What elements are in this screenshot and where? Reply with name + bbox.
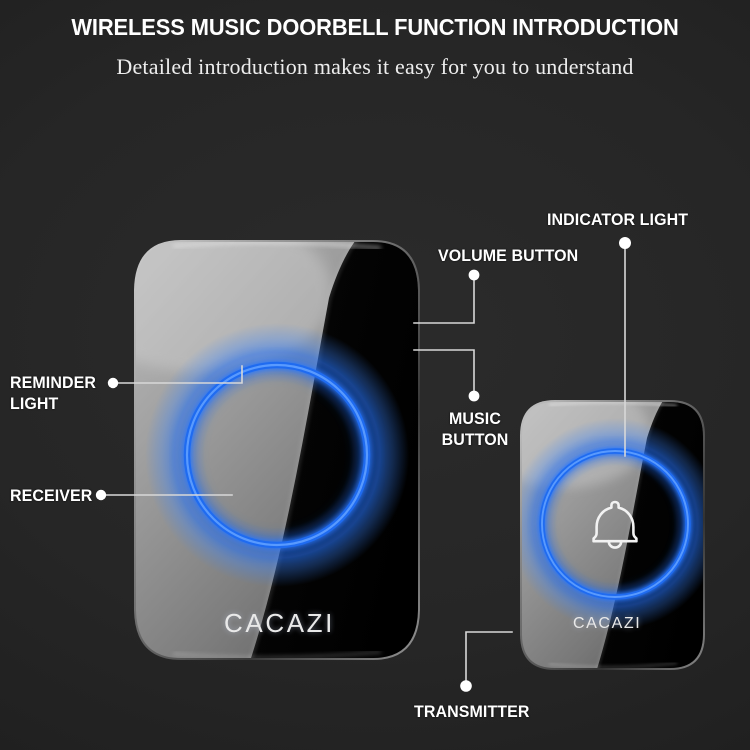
callout-label-indicator-light: INDICATOR LIGHT <box>547 209 688 230</box>
callout-line-1: INDICATOR LIGHT <box>547 209 688 230</box>
leader-volume-button <box>414 277 474 323</box>
callout-line-1: VOLUME BUTTON <box>438 245 578 266</box>
receiver-brand-logo: CACAZI <box>224 608 335 639</box>
callout-label-music-button: MUSIC BUTTON <box>416 408 534 450</box>
marker-dot-volume-button <box>469 270 480 281</box>
marker-dot-transmitter <box>460 680 472 692</box>
infographic-canvas: WIRELESS MUSIC DOORBELL FUNCTION INTRODU… <box>0 0 750 750</box>
leader-music-button <box>414 350 474 394</box>
leader-transmitter <box>466 632 512 682</box>
marker-dot-indicator-light <box>619 237 631 249</box>
callout-line-1: RECEIVER <box>10 485 92 506</box>
callout-label-volume-button: VOLUME BUTTON <box>438 245 578 266</box>
callout-label-receiver: RECEIVER <box>10 485 92 506</box>
transmitter-brand-logo: CACAZI <box>573 615 641 633</box>
marker-dot-receiver <box>96 490 106 500</box>
callout-line-1: MUSIC <box>416 408 534 429</box>
marker-dot-reminder-light <box>108 378 118 388</box>
page-title: WIRELESS MUSIC DOORBELL FUNCTION INTRODU… <box>26 14 724 41</box>
callout-line-2: BUTTON <box>416 429 534 450</box>
marker-dot-music-button <box>469 391 480 402</box>
callout-label-transmitter: TRANSMITTER <box>414 701 530 722</box>
callout-line-2: LIGHT <box>10 393 96 414</box>
callout-label-reminder-light: REMINDER LIGHT <box>10 372 96 414</box>
callout-line-1: REMINDER <box>10 372 96 393</box>
page-subtitle: Detailed introduction makes it easy for … <box>0 54 750 80</box>
receiver-device <box>133 238 421 662</box>
callout-line-1: TRANSMITTER <box>414 701 530 722</box>
